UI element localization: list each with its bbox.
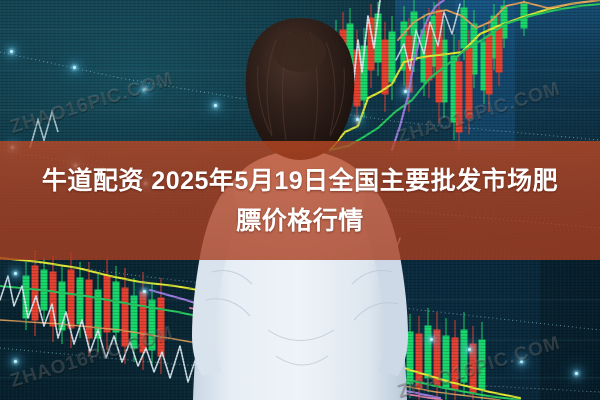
headline-text-block: 牛道配资 2025年5月19日全国主要批发市场肥 膘价格行情 [0,141,600,260]
screenshot-canvas: ZHAO16PIC.COM ZHAO16PIC.COM ZHAO16PIC.CO… [0,0,600,400]
headline-line-1: 牛道配资 2025年5月19日全国主要批发市场肥 [42,162,558,200]
hair-bun [274,32,326,72]
headline-line-2: 膘价格行情 [236,202,364,240]
